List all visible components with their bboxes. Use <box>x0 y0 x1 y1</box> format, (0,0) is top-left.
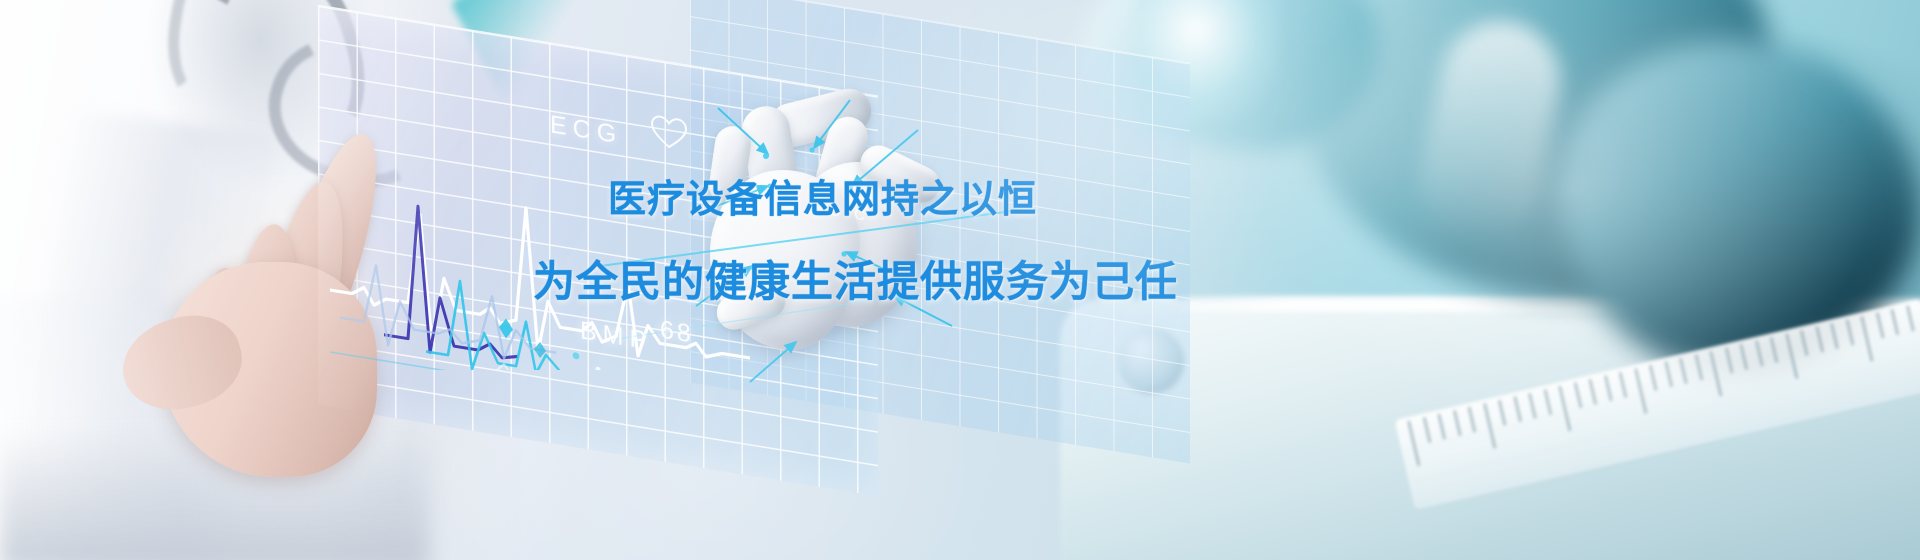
headline-line-2: 为全民的健康生活提供服务为己任 <box>533 248 1178 309</box>
headline-group: 医疗设备信息网持之以恒 为全民的健康生活提供服务为己任 <box>0 0 1920 560</box>
medical-hero-banner: /*ticks injected below*/ <box>0 0 1920 560</box>
headline-line-1: 医疗设备信息网持之以恒 <box>608 168 1037 223</box>
